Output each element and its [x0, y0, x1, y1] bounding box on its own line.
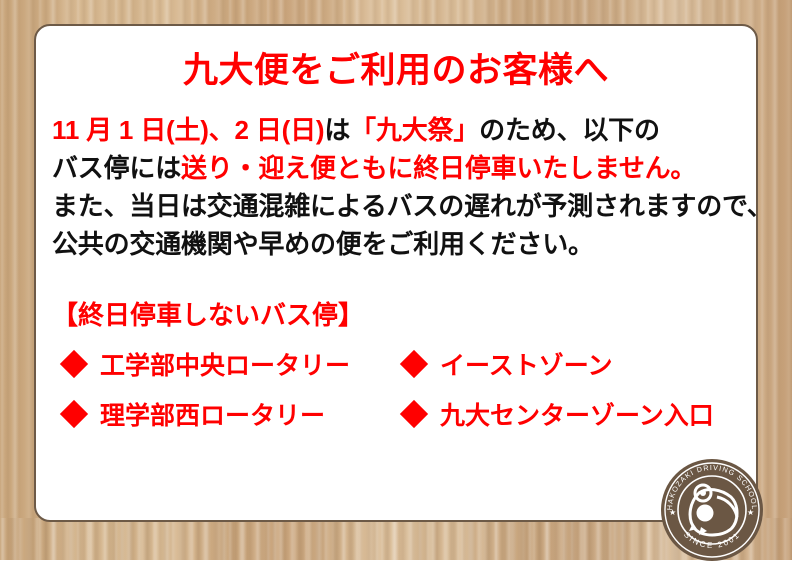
diamond-bullet-icon: [60, 400, 88, 428]
body-segment-nostop: 送り・迎え便ともに終日停車いたしません。: [181, 153, 696, 183]
notice-card: 九大便をご利用のお客様へ 11 月 1 日(土)、2 日(日)は「九大祭」のため…: [34, 24, 758, 522]
body-segment-advice: 公共の交通機関や早めの便をご利用ください。: [52, 229, 594, 259]
page-title: 九大便をご利用のお客様へ: [36, 26, 756, 91]
list-item: イーストゾーン: [404, 346, 756, 382]
list-item: 九大センターゾーン入口: [404, 396, 756, 432]
body-segment-reason: のため、以下の: [479, 115, 660, 145]
diamond-bullet-icon: [400, 400, 428, 428]
notice-body: 11 月 1 日(土)、2 日(日)は「九大祭」のため、以下の バス停には送り・…: [36, 111, 756, 264]
logo-arc-bottom-text: SINCE 2001: [682, 530, 742, 550]
poster-background: 九大便をご利用のお客様へ 11 月 1 日(土)、2 日(日)は「九大祭」のため…: [0, 0, 792, 560]
list-item: 理学部西ロータリー: [64, 396, 404, 432]
body-segment-wa: は: [324, 115, 350, 145]
section-header-closed-stops: 【終日停車しないバス停】: [36, 295, 756, 332]
diamond-bullet-icon: [400, 350, 428, 378]
bus-stop-label: イーストゾーン: [440, 346, 613, 382]
bus-stop-label: 理学部西ロータリー: [100, 396, 325, 432]
list-item: 工学部中央ロータリー: [64, 346, 404, 382]
body-line-4: 公共の交通機関や早めの便をご利用ください。: [52, 225, 740, 263]
body-segment-busstop: バス停には: [52, 153, 181, 183]
bus-stop-list: 工学部中央ロータリー イーストゾーン 理学部西ロータリー 九大センターゾーン入口: [36, 346, 756, 432]
body-segment-event: 「九大祭」: [350, 115, 479, 145]
bus-stop-label: 工学部中央ロータリー: [100, 346, 350, 382]
wood-grain-texture: [0, 518, 792, 560]
body-line-3: また、当日は交通混雑によるバスの遅れが予測されますので、: [52, 187, 740, 225]
bus-stop-label: 九大センターゾーン入口: [440, 396, 714, 432]
body-segment-date: 11 月 1 日(土)、2 日(日): [52, 115, 324, 145]
body-line-1: 11 月 1 日(土)、2 日(日)は「九大祭」のため、以下の: [52, 111, 740, 149]
body-segment-delay: また、当日は交通混雑によるバスの遅れが予測されますので、: [52, 191, 758, 221]
body-line-2: バス停には送り・迎え便ともに終日停車いたしません。: [52, 149, 740, 187]
diamond-bullet-icon: [60, 350, 88, 378]
